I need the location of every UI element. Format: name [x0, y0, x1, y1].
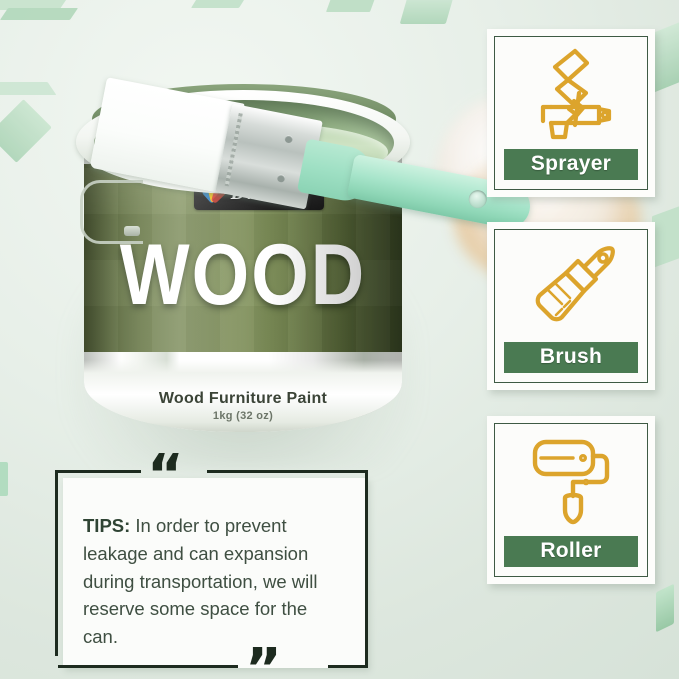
tool-card-inner: Brush: [494, 229, 648, 383]
can-handle-nub: [124, 226, 140, 236]
tips-prefix: TIPS:: [83, 515, 130, 536]
paint-brush-icon: [495, 230, 647, 342]
tool-card-label-brush: Brush: [504, 342, 638, 373]
bg-chevron-top-right-b: [330, 0, 378, 24]
product-net-weight: 1kg (32 oz): [84, 410, 402, 422]
tool-card-brush[interactable]: Brush: [487, 222, 655, 390]
bg-chevron-top-center: [196, 0, 250, 32]
tool-card-label-sprayer: Sprayer: [504, 149, 638, 180]
product-subtitle: Wood Furniture Paint: [84, 390, 402, 408]
infographic-canvas: Dwil WOOD Wood Furniture Paint 1kg (32 o…: [0, 0, 679, 679]
quote-open-icon: “: [147, 448, 184, 504]
ferrule-rivet-bottom: [276, 174, 285, 183]
bg-chevron-right-mid: [652, 210, 679, 270]
bg-chevron-top-left: [0, 0, 68, 48]
can-subtitle-group: Wood Furniture Paint 1kg (32 oz): [84, 390, 402, 422]
paint-can: Dwil WOOD Wood Furniture Paint 1kg (32 o…: [62, 30, 422, 460]
tool-card-inner: Roller: [494, 423, 648, 577]
spray-gun-icon: [495, 37, 647, 149]
can-bottom-band: Wood Furniture Paint 1kg (32 oz): [84, 360, 402, 432]
tips-text: TIPS: In order to prevent leakage and ca…: [83, 512, 346, 651]
tips-callout: “ ” TIPS: In order to prevent leakage an…: [55, 470, 368, 668]
tool-card-sprayer[interactable]: Sprayer: [487, 29, 655, 197]
tool-card-roller[interactable]: Roller: [487, 416, 655, 584]
paint-roller-icon: [495, 424, 647, 536]
ferrule-rivet-top: [284, 134, 293, 143]
tool-card-inner: Sprayer: [494, 36, 648, 190]
bg-chevron-left-bottom: [0, 462, 22, 502]
tool-card-label-roller: Roller: [504, 536, 638, 567]
bg-chevron-bottom-right: [656, 588, 679, 632]
